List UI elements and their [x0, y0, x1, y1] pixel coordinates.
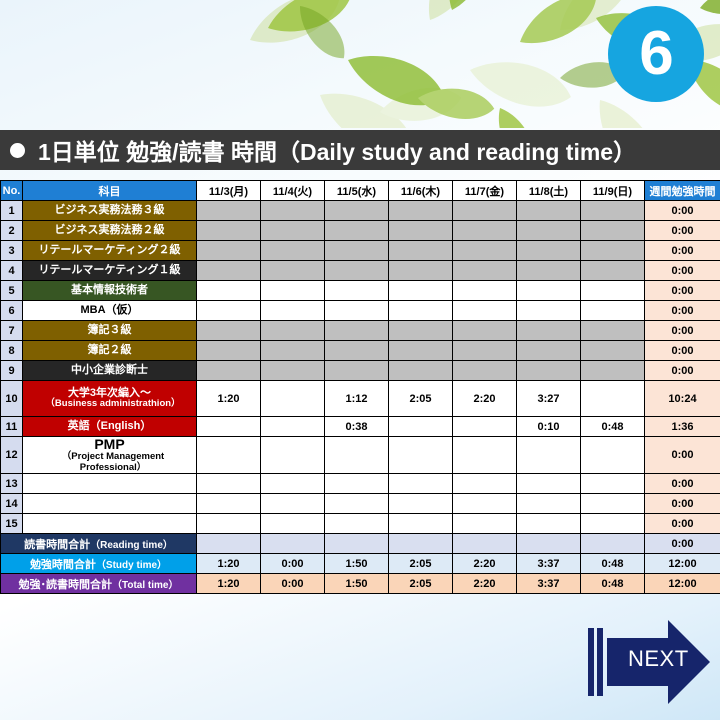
- subject-cell[interactable]: ビジネス実務法務２級: [23, 221, 197, 241]
- day-value-cell[interactable]: [389, 494, 453, 514]
- header-day-5: 11/8(土): [517, 181, 581, 201]
- subject-cell[interactable]: [23, 474, 197, 494]
- day-value-cell[interactable]: [325, 201, 389, 221]
- summary-day-cell: [325, 534, 389, 554]
- subject-cell[interactable]: ビジネス実務法務３級: [23, 201, 197, 221]
- day-value-cell[interactable]: [453, 361, 517, 381]
- day-value-cell[interactable]: [517, 514, 581, 534]
- table-row: 12PMP（Project Management Professional）0:…: [1, 437, 720, 474]
- summary-day-cell: 2:20: [453, 554, 517, 574]
- day-value-cell[interactable]: [517, 221, 581, 241]
- summary-weekly-cell: 0:00: [645, 534, 720, 554]
- row-number-cell: 6: [1, 301, 23, 321]
- summary-row: 読書時間合計（Reading time）0:00: [1, 534, 720, 554]
- subject-cell[interactable]: リテールマーケティング２級: [23, 241, 197, 261]
- table-row: 11英語（English）0:380:100:481:36: [1, 417, 720, 437]
- table-row: 3リテールマーケティング２級0:00: [1, 241, 720, 261]
- summary-label-cell: 読書時間合計（Reading time）: [1, 534, 197, 554]
- day-value-cell[interactable]: [197, 301, 261, 321]
- day-value-cell[interactable]: [453, 321, 517, 341]
- weekly-total-cell: 10:24: [645, 381, 720, 417]
- header-row: No. 科目 11/3(月) 11/4(火) 11/5(水) 11/6(木) 1…: [1, 181, 720, 201]
- subject-cell[interactable]: 簿記２級: [23, 341, 197, 361]
- row-number-cell: 3: [1, 241, 23, 261]
- day-value-cell[interactable]: [261, 437, 325, 474]
- summary-weekly-cell: 12:00: [645, 554, 720, 574]
- summary-day-cell: 2:05: [389, 574, 453, 594]
- day-value-cell[interactable]: [389, 281, 453, 301]
- day-value-cell[interactable]: [517, 437, 581, 474]
- day-value-cell[interactable]: [453, 341, 517, 361]
- subject-cell[interactable]: 中小企業診断士: [23, 361, 197, 381]
- table-row: 5基本情報技術者0:00: [1, 281, 720, 301]
- weekly-total-cell: 0:00: [645, 514, 720, 534]
- day-value-cell[interactable]: [197, 474, 261, 494]
- bullet-circle-icon: [10, 143, 25, 158]
- day-value-cell[interactable]: 1:20: [197, 381, 261, 417]
- day-value-cell[interactable]: [197, 241, 261, 261]
- summary-label-en: （Total time）: [112, 580, 178, 591]
- day-value-cell[interactable]: [261, 514, 325, 534]
- subject-cell[interactable]: [23, 494, 197, 514]
- day-value-cell[interactable]: [325, 494, 389, 514]
- subject-cell[interactable]: 英語（English）: [23, 417, 197, 437]
- header-weekly-total: 週間勉強時間: [645, 181, 720, 201]
- header-day-6: 11/9(日): [581, 181, 645, 201]
- day-value-cell[interactable]: [261, 281, 325, 301]
- day-value-cell[interactable]: [389, 437, 453, 474]
- summary-day-cell: 1:50: [325, 574, 389, 594]
- study-time-table: No. 科目 11/3(月) 11/4(火) 11/5(水) 11/6(木) 1…: [0, 180, 720, 594]
- day-value-cell[interactable]: [581, 221, 645, 241]
- summary-day-cell: 0:48: [581, 574, 645, 594]
- day-value-cell[interactable]: 0:10: [517, 417, 581, 437]
- day-value-cell[interactable]: [389, 417, 453, 437]
- table-row: 150:00: [1, 514, 720, 534]
- day-value-cell[interactable]: [325, 361, 389, 381]
- day-value-cell[interactable]: 2:20: [453, 381, 517, 417]
- subject-cell[interactable]: 簿記３級: [23, 321, 197, 341]
- day-value-cell[interactable]: [453, 301, 517, 321]
- table-row: 130:00: [1, 474, 720, 494]
- section-title-bar: 1日単位 勉強/読書 時間（Daily study and reading ti…: [0, 130, 720, 170]
- day-value-cell[interactable]: [517, 321, 581, 341]
- row-number-cell: 2: [1, 221, 23, 241]
- summary-day-cell: 1:20: [197, 574, 261, 594]
- day-value-cell[interactable]: [517, 494, 581, 514]
- day-value-cell[interactable]: [517, 361, 581, 381]
- header-day-3: 11/6(木): [389, 181, 453, 201]
- day-value-cell[interactable]: [197, 417, 261, 437]
- summary-label-jp: 勉強･読書時間合計: [19, 579, 113, 591]
- subject-cell[interactable]: [23, 514, 197, 534]
- day-value-cell[interactable]: [581, 241, 645, 261]
- day-value-cell[interactable]: 3:27: [517, 381, 581, 417]
- day-value-cell[interactable]: [453, 241, 517, 261]
- table-row: 140:00: [1, 494, 720, 514]
- weekly-total-cell: 0:00: [645, 281, 720, 301]
- day-value-cell[interactable]: [389, 241, 453, 261]
- row-number-cell: 13: [1, 474, 23, 494]
- summary-day-cell: 1:50: [325, 554, 389, 574]
- day-value-cell[interactable]: [197, 221, 261, 241]
- day-value-cell[interactable]: [453, 281, 517, 301]
- day-value-cell[interactable]: [581, 281, 645, 301]
- day-value-cell[interactable]: [389, 201, 453, 221]
- summary-day-cell: [197, 534, 261, 554]
- day-value-cell[interactable]: [325, 341, 389, 361]
- table-row: 2ビジネス実務法務２級0:00: [1, 221, 720, 241]
- header-day-0: 11/3(月): [197, 181, 261, 201]
- day-value-cell[interactable]: [261, 474, 325, 494]
- day-value-cell[interactable]: [517, 241, 581, 261]
- day-value-cell[interactable]: [581, 437, 645, 474]
- day-value-cell[interactable]: [261, 201, 325, 221]
- summary-label-jp: 勉強時間合計: [30, 559, 96, 571]
- day-value-cell[interactable]: [197, 437, 261, 474]
- summary-day-cell: 3:37: [517, 554, 581, 574]
- day-value-cell[interactable]: [325, 514, 389, 534]
- summary-day-cell: 0:00: [261, 554, 325, 574]
- day-value-cell[interactable]: [325, 221, 389, 241]
- day-value-cell[interactable]: [389, 514, 453, 534]
- day-value-cell[interactable]: [261, 321, 325, 341]
- day-value-cell[interactable]: [389, 474, 453, 494]
- summary-row: 勉強時間合計（Study time）1:200:001:502:052:203:…: [1, 554, 720, 574]
- day-value-cell[interactable]: [261, 381, 325, 417]
- row-number-cell: 9: [1, 361, 23, 381]
- row-number-cell: 15: [1, 514, 23, 534]
- table-row: 7簿記３級0:00: [1, 321, 720, 341]
- header-day-2: 11/5(水): [325, 181, 389, 201]
- day-value-cell[interactable]: [261, 261, 325, 281]
- day-value-cell[interactable]: [581, 301, 645, 321]
- day-value-cell[interactable]: [197, 201, 261, 221]
- day-value-cell[interactable]: [325, 301, 389, 321]
- weekly-total-cell: 0:00: [645, 341, 720, 361]
- subject-cell[interactable]: 基本情報技術者: [23, 281, 197, 301]
- row-number-cell: 11: [1, 417, 23, 437]
- header-day-1: 11/4(火): [261, 181, 325, 201]
- table-row: 6MBA（仮）0:00: [1, 301, 720, 321]
- day-value-cell[interactable]: [581, 381, 645, 417]
- row-number-cell: 5: [1, 281, 23, 301]
- day-value-cell[interactable]: [581, 261, 645, 281]
- day-value-cell[interactable]: [197, 341, 261, 361]
- weekly-total-cell: 0:00: [645, 474, 720, 494]
- weekly-total-cell: 1:36: [645, 417, 720, 437]
- day-value-cell[interactable]: [261, 417, 325, 437]
- day-value-cell[interactable]: [389, 341, 453, 361]
- weekly-total-cell: 0:00: [645, 361, 720, 381]
- day-value-cell[interactable]: [325, 241, 389, 261]
- day-value-cell[interactable]: [197, 494, 261, 514]
- day-value-cell[interactable]: 0:48: [581, 417, 645, 437]
- row-number-cell: 1: [1, 201, 23, 221]
- row-number-cell: 7: [1, 321, 23, 341]
- subject-cell[interactable]: リテールマーケティング１級: [23, 261, 197, 281]
- day-value-cell[interactable]: [581, 474, 645, 494]
- summary-day-cell: [517, 534, 581, 554]
- summary-weekly-cell: 12:00: [645, 574, 720, 594]
- summary-label-en: （Study time）: [96, 560, 167, 571]
- weekly-total-cell: 0:00: [645, 201, 720, 221]
- summary-day-cell: 2:20: [453, 574, 517, 594]
- day-value-cell[interactable]: [197, 261, 261, 281]
- weekly-total-cell: 0:00: [645, 321, 720, 341]
- day-value-cell[interactable]: [581, 514, 645, 534]
- day-value-cell[interactable]: [581, 201, 645, 221]
- table-row: 1ビジネス実務法務３級0:00: [1, 201, 720, 221]
- day-value-cell[interactable]: [261, 341, 325, 361]
- summary-day-cell: 0:48: [581, 554, 645, 574]
- summary-day-cell: [453, 534, 517, 554]
- row-number-cell: 14: [1, 494, 23, 514]
- day-value-cell[interactable]: [453, 474, 517, 494]
- day-value-cell[interactable]: [517, 341, 581, 361]
- header-subject: 科目: [23, 181, 197, 201]
- next-button[interactable]: NEXT: [588, 616, 712, 708]
- day-value-cell[interactable]: [197, 281, 261, 301]
- weekly-total-cell: 0:00: [645, 301, 720, 321]
- day-value-cell[interactable]: 2:05: [389, 381, 453, 417]
- day-value-cell[interactable]: [389, 221, 453, 241]
- table-body: 1ビジネス実務法務３級0:002ビジネス実務法務２級0:003リテールマーケティ…: [1, 201, 720, 594]
- subject-cell[interactable]: PMP（Project Management Professional）: [23, 437, 197, 474]
- summary-day-cell: 1:20: [197, 554, 261, 574]
- day-value-cell[interactable]: [389, 261, 453, 281]
- page-number-text: 6: [639, 23, 672, 85]
- summary-day-cell: 2:05: [389, 554, 453, 574]
- day-value-cell[interactable]: [389, 321, 453, 341]
- day-value-cell[interactable]: [581, 361, 645, 381]
- summary-day-cell: 0:00: [261, 574, 325, 594]
- summary-day-cell: 3:37: [517, 574, 581, 594]
- day-value-cell[interactable]: 1:12: [325, 381, 389, 417]
- day-value-cell[interactable]: [261, 301, 325, 321]
- day-value-cell[interactable]: [389, 301, 453, 321]
- page-number-badge: 6: [608, 6, 704, 102]
- day-value-cell[interactable]: [581, 341, 645, 361]
- day-value-cell[interactable]: [197, 361, 261, 381]
- day-value-cell[interactable]: [197, 321, 261, 341]
- day-value-cell[interactable]: 0:38: [325, 417, 389, 437]
- weekly-total-cell: 0:00: [645, 221, 720, 241]
- summary-label-cell: 勉強･読書時間合計（Total time）: [1, 574, 197, 594]
- day-value-cell[interactable]: [517, 201, 581, 221]
- weekly-total-cell: 0:00: [645, 437, 720, 474]
- day-value-cell[interactable]: [453, 221, 517, 241]
- page-title: 1日単位 勉強/読書 時間（Daily study and reading ti…: [38, 133, 636, 167]
- day-value-cell[interactable]: [261, 361, 325, 381]
- day-value-cell[interactable]: [325, 474, 389, 494]
- day-value-cell[interactable]: [517, 474, 581, 494]
- day-value-cell[interactable]: [197, 514, 261, 534]
- day-value-cell[interactable]: [261, 241, 325, 261]
- summary-row: 勉強･読書時間合計（Total time）1:200:001:502:052:2…: [1, 574, 720, 594]
- subject-name-english: （Business administrathion）: [23, 399, 196, 409]
- day-value-cell[interactable]: [389, 361, 453, 381]
- row-number-cell: 4: [1, 261, 23, 281]
- table-row: 10大学3年次編入～（Business administrathion）1:20…: [1, 381, 720, 417]
- weekly-total-cell: 0:00: [645, 261, 720, 281]
- day-value-cell[interactable]: [453, 494, 517, 514]
- day-value-cell[interactable]: [453, 514, 517, 534]
- subject-name-english: （Project Management Professional）: [23, 452, 196, 473]
- summary-day-cell: [581, 534, 645, 554]
- day-value-cell[interactable]: [581, 321, 645, 341]
- weekly-total-cell: 0:00: [645, 241, 720, 261]
- day-value-cell[interactable]: [517, 301, 581, 321]
- day-value-cell[interactable]: [453, 417, 517, 437]
- day-value-cell[interactable]: [517, 261, 581, 281]
- table-row: 8簿記２級0:00: [1, 341, 720, 361]
- summary-day-cell: [389, 534, 453, 554]
- header-day-4: 11/7(金): [453, 181, 517, 201]
- header-no: No.: [1, 181, 23, 201]
- subject-cell[interactable]: MBA（仮）: [23, 301, 197, 321]
- summary-label-en: （Reading time）: [90, 540, 173, 551]
- day-value-cell[interactable]: [453, 201, 517, 221]
- row-number-cell: 8: [1, 341, 23, 361]
- day-value-cell[interactable]: [261, 221, 325, 241]
- day-value-cell[interactable]: [517, 281, 581, 301]
- summary-label-jp: 読書時間合計: [24, 539, 90, 551]
- row-number-cell: 12: [1, 437, 23, 474]
- day-value-cell[interactable]: [581, 494, 645, 514]
- row-number-cell: 10: [1, 381, 23, 417]
- table-row: 4リテールマーケティング１級0:00: [1, 261, 720, 281]
- day-value-cell[interactable]: [325, 261, 389, 281]
- summary-label-cell: 勉強時間合計（Study time）: [1, 554, 197, 574]
- next-button-label: NEXT: [628, 646, 689, 672]
- summary-day-cell: [261, 534, 325, 554]
- weekly-total-cell: 0:00: [645, 494, 720, 514]
- table-row: 9中小企業診断士0:00: [1, 361, 720, 381]
- day-value-cell[interactable]: [325, 321, 389, 341]
- day-value-cell[interactable]: [325, 437, 389, 474]
- day-value-cell[interactable]: [453, 437, 517, 474]
- table-header: No. 科目 11/3(月) 11/4(火) 11/5(水) 11/6(木) 1…: [1, 181, 720, 201]
- day-value-cell[interactable]: [453, 261, 517, 281]
- day-value-cell[interactable]: [325, 281, 389, 301]
- subject-cell[interactable]: 大学3年次編入～（Business administrathion）: [23, 381, 197, 417]
- day-value-cell[interactable]: [261, 494, 325, 514]
